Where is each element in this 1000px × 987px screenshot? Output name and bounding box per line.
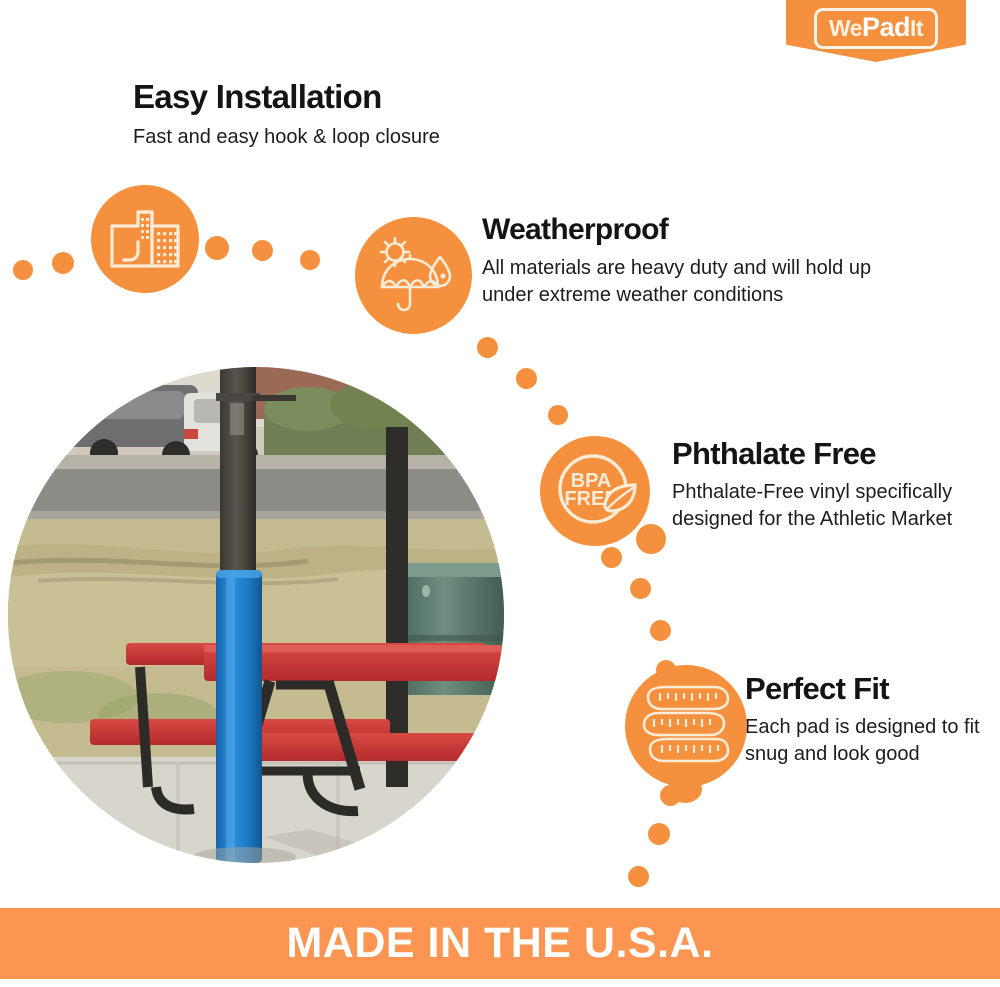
wepadit-logo-badge[interactable]: We Pad It xyxy=(786,0,966,62)
feature-block-weatherproof: Weatherproof All materials are heavy dut… xyxy=(482,214,902,309)
feature-block-phthalate-free: Phthalate Free Phthalate-Free vinyl spec… xyxy=(672,438,982,533)
trail-dot xyxy=(13,260,33,280)
product-photo xyxy=(8,367,504,863)
feature-title: Phthalate Free xyxy=(672,438,982,471)
trail-dot xyxy=(650,620,671,641)
trail-dot xyxy=(300,250,320,270)
feature-description: Each pad is designed to fit snug and loo… xyxy=(745,714,985,768)
feature-description: Fast and easy hook & loop closure xyxy=(133,124,563,151)
logo-outline-box: We Pad It xyxy=(814,8,938,49)
trail-dot xyxy=(648,823,670,845)
hook-and-loop-strip-icon xyxy=(91,185,199,293)
feature-title: Weatherproof xyxy=(482,214,902,246)
feature-block-perfect-fit: Perfect Fit Each pad is designed to fit … xyxy=(745,673,985,768)
logo-text-we: We xyxy=(829,17,862,40)
trail-dot xyxy=(252,240,273,261)
trail-dot xyxy=(630,578,651,599)
trail-dot xyxy=(601,547,622,568)
feature-title: Perfect Fit xyxy=(745,673,985,706)
measuring-tape-icon xyxy=(625,665,747,787)
trail-dot xyxy=(628,866,649,887)
sun-umbrella-raindrop-icon xyxy=(355,217,472,334)
trail-dot xyxy=(516,368,537,389)
product-feature-infographic: We Pad It Easy Installation Fast and eas… xyxy=(0,0,1000,987)
made-in-usa-text: MADE IN THE U.S.A. xyxy=(286,919,713,968)
trail-dot xyxy=(477,337,498,358)
bpa-free-leaf-icon: BPA FREE xyxy=(540,436,650,546)
product-photo-illustration xyxy=(8,367,504,863)
trail-dot xyxy=(548,405,568,425)
logo-text-it: It xyxy=(910,17,923,40)
feature-description: All materials are heavy duty and will ho… xyxy=(482,255,902,309)
feature-description: Phthalate-Free vinyl specifically design… xyxy=(672,479,982,533)
feature-block-easy-installation: Easy Installation Fast and easy hook & l… xyxy=(133,80,563,151)
logo-text-pad: Pad xyxy=(862,14,910,41)
fit-icon-accent-blob xyxy=(668,775,702,803)
made-in-usa-banner: MADE IN THE U.S.A. xyxy=(0,908,1000,979)
trail-dot xyxy=(52,252,74,274)
trail-dot xyxy=(205,236,229,260)
feature-title: Easy Installation xyxy=(133,80,563,115)
bpa-icon-accent-blob xyxy=(636,524,666,554)
